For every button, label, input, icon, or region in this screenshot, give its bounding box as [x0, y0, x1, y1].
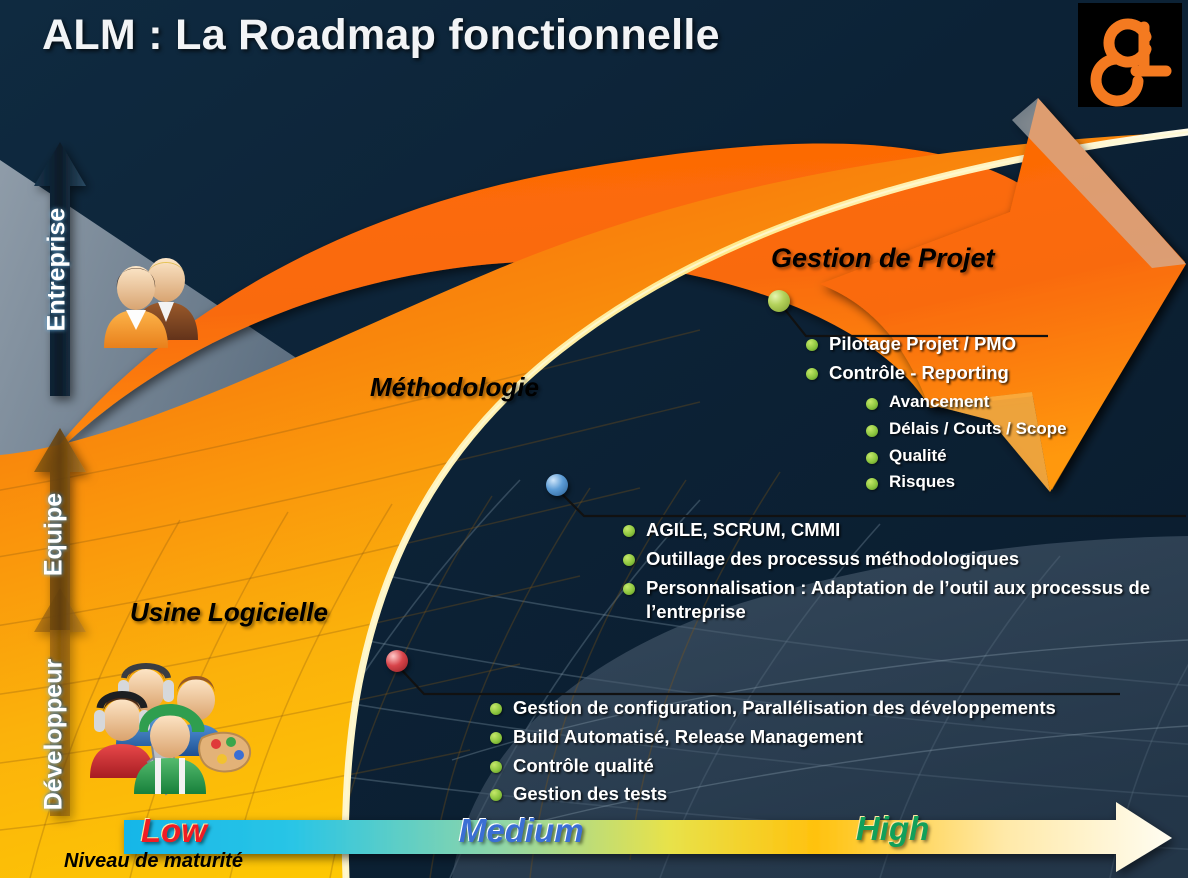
axis-level-entreprise: Entreprise [43, 175, 72, 365]
list-item-label: Outillage des processus méthodologiques [646, 547, 1019, 572]
bullet-icon [866, 452, 878, 464]
list-item-label: Build Automatisé, Release Management [513, 725, 863, 750]
company-logo [1078, 3, 1182, 107]
list-item-label: Qualité [889, 445, 947, 468]
maturity-axis-caption: Niveau de maturité [64, 850, 243, 873]
maturity-tick-low: Low [141, 812, 207, 850]
list-item: Contrôle - Reporting [806, 361, 1016, 386]
list-item: Pilotage Projet / PMO [806, 332, 1016, 357]
bullet-icon [490, 703, 502, 715]
marker-methodologie[interactable] [546, 474, 568, 496]
bullet-icon [490, 732, 502, 744]
list-item-label: Gestion des tests [513, 782, 667, 807]
bullet-icon [623, 525, 635, 537]
list-item: Gestion de configuration, Parallélisatio… [490, 696, 1056, 721]
axis-level-equipe: Equipe [40, 455, 69, 615]
slide-canvas: ALM : La Roadmap fonctionnelle Entrepris… [0, 0, 1188, 878]
list-item-label: Avancement [889, 391, 989, 414]
list-item: Risques [866, 471, 1067, 494]
bullet-icon [806, 368, 818, 380]
list-item-label: Personnalisation : Adaptation de l’outil… [646, 576, 1188, 626]
list-item: Gestion des tests [490, 782, 1056, 807]
bullet-icon [866, 478, 878, 490]
page-title: ALM : La Roadmap fonctionnelle [42, 11, 720, 60]
bullet-list-methodologie: AGILE, SCRUM, CMMI Outillage des process… [623, 518, 1188, 629]
section-heading-gestion: Gestion de Projet [771, 243, 995, 274]
list-item-label: Contrôle qualité [513, 754, 654, 779]
list-item-label: Pilotage Projet / PMO [829, 332, 1016, 357]
bullet-icon [623, 583, 635, 595]
section-heading-usine: Usine Logicielle [130, 597, 328, 628]
list-item-label: Gestion de configuration, Parallélisatio… [513, 696, 1056, 721]
list-item: Délais / Couts / Scope [866, 418, 1067, 441]
maturity-tick-medium: Medium [459, 812, 584, 850]
bullet-list-gestion-sub: Avancement Délais / Couts / Scope Qualit… [866, 391, 1067, 498]
list-item-label: Contrôle - Reporting [829, 361, 1009, 386]
enterprise-people-icon [96, 228, 208, 350]
bullet-list-usine: Gestion de configuration, Parallélisatio… [490, 696, 1056, 811]
bullet-icon [806, 339, 818, 351]
list-item: Qualité [866, 445, 1067, 468]
list-item: Avancement [866, 391, 1067, 414]
list-item: Personnalisation : Adaptation de l’outil… [623, 576, 1188, 626]
bullet-icon [490, 789, 502, 801]
list-item: Build Automatisé, Release Management [490, 725, 1056, 750]
marker-gestion-de-projet[interactable] [768, 290, 790, 312]
axis-level-developpeur: Développeur [40, 635, 69, 835]
list-item: Outillage des processus méthodologiques [623, 547, 1188, 572]
list-item-label: AGILE, SCRUM, CMMI [646, 518, 840, 543]
maturity-tick-high: High [856, 810, 929, 848]
developer-team-icon [84, 628, 260, 828]
list-item-label: Risques [889, 471, 955, 494]
list-item: AGILE, SCRUM, CMMI [623, 518, 1188, 543]
bullet-list-gestion: Pilotage Projet / PMO Contrôle - Reporti… [806, 332, 1016, 390]
section-heading-methodologie: Méthodologie [370, 372, 539, 403]
list-item: Contrôle qualité [490, 754, 1056, 779]
marker-usine-logicielle[interactable] [386, 650, 408, 672]
bullet-icon [623, 554, 635, 566]
bullet-icon [866, 425, 878, 437]
bullet-icon [490, 761, 502, 773]
bullet-icon [866, 398, 878, 410]
list-item-label: Délais / Couts / Scope [889, 418, 1067, 441]
